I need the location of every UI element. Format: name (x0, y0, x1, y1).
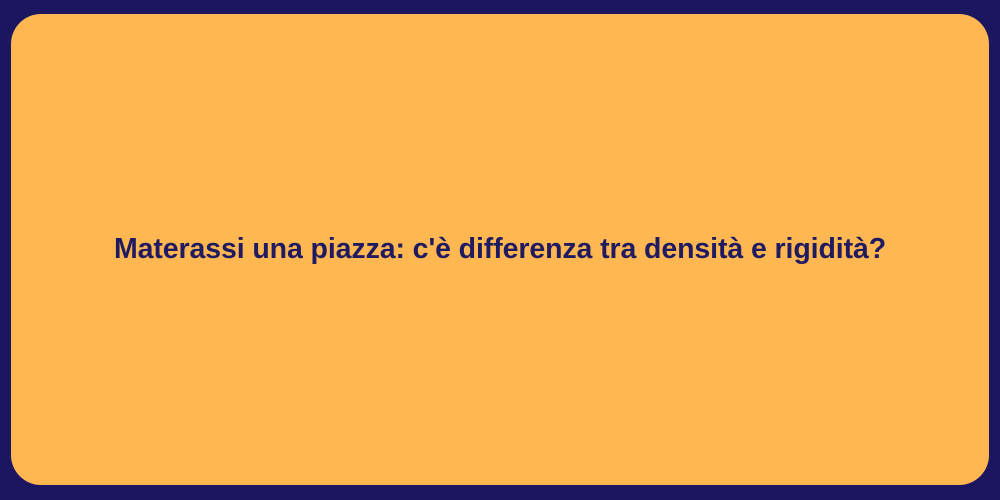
page-title: Materassi una piazza: c'è differenza tra… (90, 230, 910, 268)
content-card: Materassi una piazza: c'è differenza tra… (11, 14, 989, 485)
page-frame: Materassi una piazza: c'è differenza tra… (0, 0, 1000, 500)
